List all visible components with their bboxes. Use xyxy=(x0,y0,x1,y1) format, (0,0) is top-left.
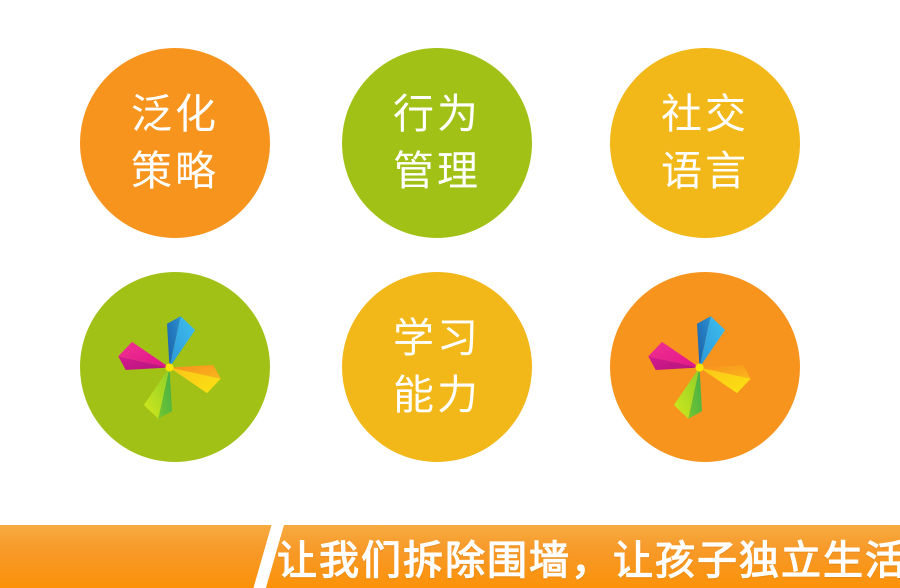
circle-pinwheel-green[interactable] xyxy=(80,272,270,462)
circle-generalization-strategy[interactable]: 泛化 策略 xyxy=(80,48,270,238)
circle-learning-ability[interactable]: 学习 能力 xyxy=(342,272,532,462)
slide-canvas: 泛化 策略 行为 管理 社交 语言 xyxy=(0,0,900,588)
circle-label-line1: 泛化 xyxy=(131,86,219,143)
circle-label-line2: 语言 xyxy=(661,143,749,200)
circle-label-line2: 管理 xyxy=(393,143,481,200)
pinwheel-logo-icon xyxy=(637,305,762,430)
circle-pinwheel-orange[interactable] xyxy=(610,272,800,462)
bottom-banner: 让我们拆除围墙，让孩子独立生活 xyxy=(0,525,900,588)
pinwheel-logo-icon xyxy=(107,305,232,430)
banner-slogan: 让我们拆除围墙，让孩子独立生活 xyxy=(277,528,900,586)
capability-circle-grid: 泛化 策略 行为 管理 社交 语言 xyxy=(0,0,900,500)
circle-social-language[interactable]: 社交 语言 xyxy=(610,48,800,238)
circle-label-line1: 行为 xyxy=(393,86,481,143)
circle-label-line1: 学习 xyxy=(393,310,481,367)
circle-label-line2: 能力 xyxy=(393,367,481,424)
circle-behavior-management[interactable]: 行为 管理 xyxy=(342,48,532,238)
circle-label-line1: 社交 xyxy=(661,86,749,143)
circle-label-line2: 策略 xyxy=(131,143,219,200)
